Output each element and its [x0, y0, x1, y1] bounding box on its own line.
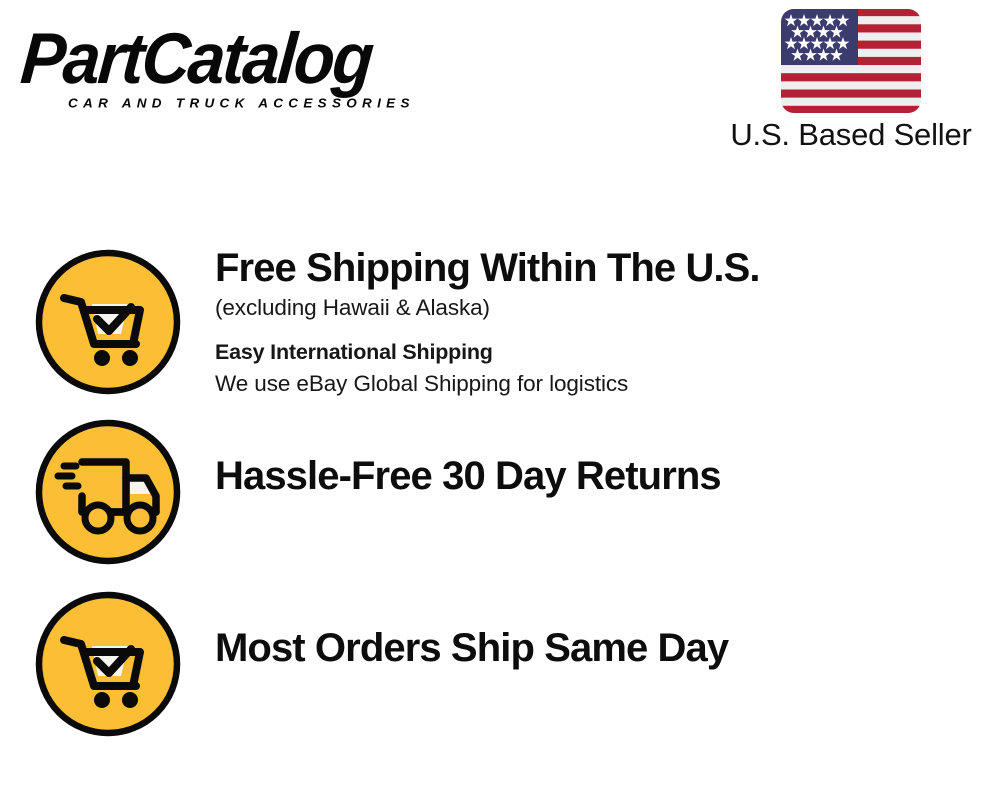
feature-list: Free Shipping Within The U.S. (excluding…	[0, 232, 1000, 748]
brand-tagline: CAR AND TRUCK ACCESSORIES	[68, 96, 494, 110]
feature-text-cell: Hassle-Free 30 Day Returns	[215, 404, 1000, 500]
banner-header: PartCatalog CAR AND TRUCK ACCESSORIES	[0, 0, 1000, 170]
feature-icon-cell	[0, 404, 215, 566]
feature-heading: Hassle-Free 30 Day Returns	[215, 452, 1000, 500]
feature-icon-cell	[0, 576, 215, 738]
delivery-truck-icon	[34, 418, 182, 566]
feature-text-cell: Free Shipping Within The U.S. (excluding…	[215, 232, 1000, 400]
us-based-seller-badge: U.S. Based Seller	[716, 8, 986, 153]
feature-subnote: (excluding Hawaii & Alaska)	[215, 292, 1000, 324]
feature-row: Most Orders Ship Same Day	[0, 576, 1000, 748]
feature-heading: Most Orders Ship Same Day	[215, 624, 1000, 672]
feature-icon-cell	[0, 232, 215, 396]
feature-text-cell: Most Orders Ship Same Day	[215, 576, 1000, 672]
shopping-cart-check-icon	[34, 590, 182, 738]
brand-wordmark: PartCatalog	[18, 24, 461, 94]
feature-row: Hassle-Free 30 Day Returns	[0, 404, 1000, 576]
shopping-cart-check-icon	[34, 248, 182, 396]
feature-heading: Free Shipping Within The U.S.	[215, 244, 1000, 292]
feature-subbody: We use eBay Global Shipping for logistic…	[215, 368, 1000, 400]
feature-row: Free Shipping Within The U.S. (excluding…	[0, 232, 1000, 404]
feature-subtitle: Easy International Shipping	[215, 336, 1000, 368]
us-based-seller-label: U.S. Based Seller	[716, 117, 986, 153]
us-flag-icon	[780, 8, 922, 114]
brand-logo[interactable]: PartCatalog CAR AND TRUCK ACCESSORIES	[24, 24, 494, 119]
